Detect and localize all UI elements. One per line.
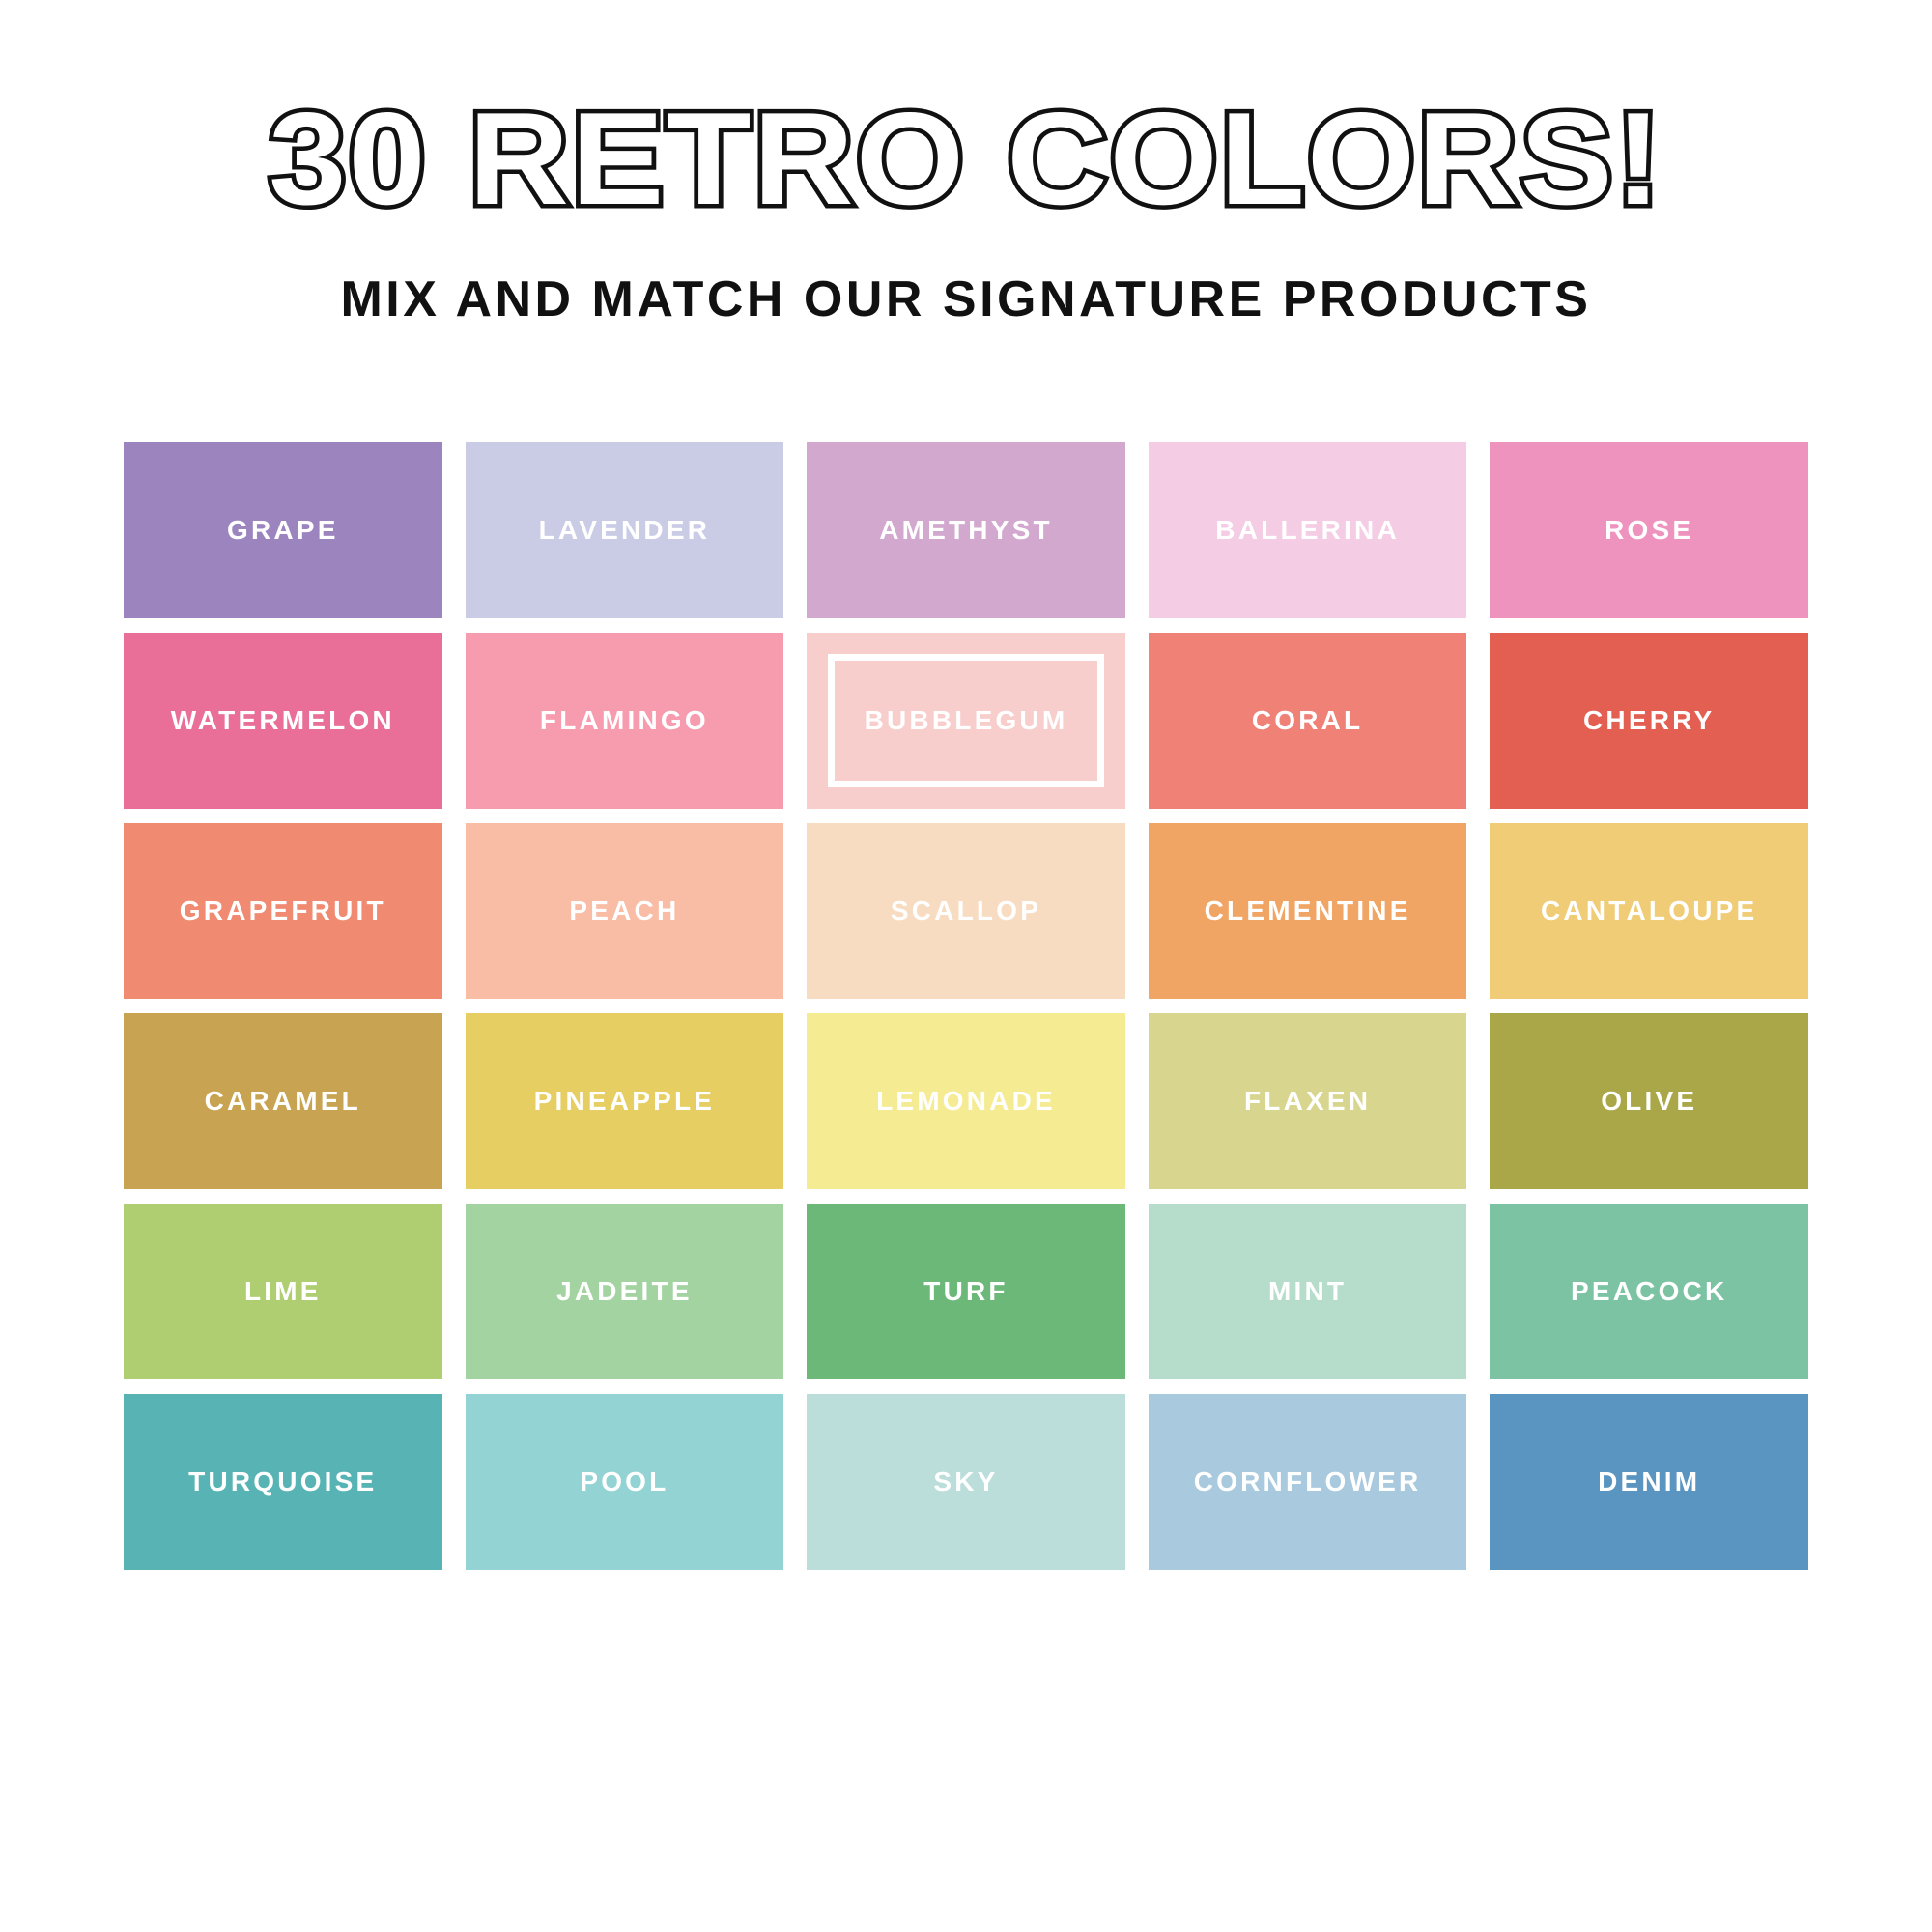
- swatch-lavender[interactable]: LAVENDER: [466, 442, 784, 618]
- swatch-watermelon[interactable]: WATERMELON: [124, 633, 442, 809]
- swatch-mint[interactable]: MINT: [1149, 1204, 1467, 1379]
- swatch-lemonade[interactable]: LEMONADE: [807, 1013, 1125, 1189]
- swatch-label: LEMONADE: [876, 1088, 1056, 1115]
- swatch-sky[interactable]: SKY: [807, 1394, 1125, 1570]
- swatch-pool[interactable]: POOL: [466, 1394, 784, 1570]
- swatch-amethyst[interactable]: AMETHYST: [807, 442, 1125, 618]
- swatch-peach[interactable]: PEACH: [466, 823, 784, 999]
- swatch-label: ROSE: [1605, 517, 1693, 544]
- page-header: 30 RETRO COLORS! MIX AND MATCH OUR SIGNA…: [0, 0, 1932, 325]
- swatch-label: SCALLOP: [891, 897, 1041, 924]
- swatch-peacock[interactable]: PEACOCK: [1490, 1204, 1808, 1379]
- swatch-label: TURF: [923, 1278, 1008, 1305]
- swatch-label: TURQUOISE: [188, 1468, 377, 1495]
- swatch-flaxen[interactable]: FLAXEN: [1149, 1013, 1467, 1189]
- swatch-label: CARAMEL: [205, 1088, 361, 1115]
- swatch-label: BALLERINA: [1215, 517, 1400, 544]
- swatch-label: PEACH: [569, 897, 679, 924]
- page-title: 30 RETRO COLORS!: [0, 93, 1932, 224]
- swatch-label: CORAL: [1252, 707, 1364, 734]
- swatch-coral[interactable]: CORAL: [1149, 633, 1467, 809]
- swatch-label: GRAPE: [227, 517, 339, 544]
- swatch-label: PINEAPPLE: [534, 1088, 716, 1115]
- swatch-jadeite[interactable]: JADEITE: [466, 1204, 784, 1379]
- swatch-label: DENIM: [1598, 1468, 1700, 1495]
- page-subtitle: MIX AND MATCH OUR SIGNATURE PRODUCTS: [0, 274, 1932, 325]
- swatch-turquoise[interactable]: TURQUOISE: [124, 1394, 442, 1570]
- swatch-cornflower[interactable]: CORNFLOWER: [1149, 1394, 1467, 1570]
- swatch-rose[interactable]: ROSE: [1490, 442, 1808, 618]
- swatch-grid: GRAPELAVENDERAMETHYSTBALLERINAROSEWATERM…: [124, 442, 1808, 1570]
- swatch-clementine[interactable]: CLEMENTINE: [1149, 823, 1467, 999]
- swatch-label: AMETHYST: [879, 517, 1053, 544]
- swatch-grapefruit[interactable]: GRAPEFRUIT: [124, 823, 442, 999]
- swatch-label: CHERRY: [1583, 707, 1715, 734]
- swatch-pineapple[interactable]: PINEAPPLE: [466, 1013, 784, 1189]
- swatch-denim[interactable]: DENIM: [1490, 1394, 1808, 1570]
- swatch-bubblegum[interactable]: BUBBLEGUM: [807, 633, 1125, 809]
- color-palette-page: 30 RETRO COLORS! MIX AND MATCH OUR SIGNA…: [0, 0, 1932, 1932]
- swatch-label: BUBBLEGUM: [865, 707, 1068, 734]
- swatch-label: PEACOCK: [1571, 1278, 1727, 1305]
- swatch-label: FLAXEN: [1244, 1088, 1371, 1115]
- swatch-label: MINT: [1268, 1278, 1347, 1305]
- swatch-label: WATERMELON: [171, 707, 395, 734]
- swatch-ballerina[interactable]: BALLERINA: [1149, 442, 1467, 618]
- swatch-label: LAVENDER: [539, 517, 711, 544]
- swatch-cherry[interactable]: CHERRY: [1490, 633, 1808, 809]
- swatch-olive[interactable]: OLIVE: [1490, 1013, 1808, 1189]
- swatch-label: SKY: [933, 1468, 998, 1495]
- swatch-label: FLAMINGO: [540, 707, 709, 734]
- swatch-label: CORNFLOWER: [1194, 1468, 1422, 1495]
- swatch-label: GRAPEFRUIT: [180, 897, 386, 924]
- swatch-label: OLIVE: [1601, 1088, 1697, 1115]
- swatch-label: LIME: [244, 1278, 322, 1305]
- swatch-label: CANTALOUPE: [1541, 897, 1757, 924]
- swatch-label: JADEITE: [556, 1278, 693, 1305]
- swatch-turf[interactable]: TURF: [807, 1204, 1125, 1379]
- swatch-label: CLEMENTINE: [1205, 897, 1411, 924]
- swatch-label: POOL: [580, 1468, 668, 1495]
- swatch-grape[interactable]: GRAPE: [124, 442, 442, 618]
- swatch-lime[interactable]: LIME: [124, 1204, 442, 1379]
- swatch-scallop[interactable]: SCALLOP: [807, 823, 1125, 999]
- swatch-cantaloupe[interactable]: CANTALOUPE: [1490, 823, 1808, 999]
- swatch-flamingo[interactable]: FLAMINGO: [466, 633, 784, 809]
- swatch-caramel[interactable]: CARAMEL: [124, 1013, 442, 1189]
